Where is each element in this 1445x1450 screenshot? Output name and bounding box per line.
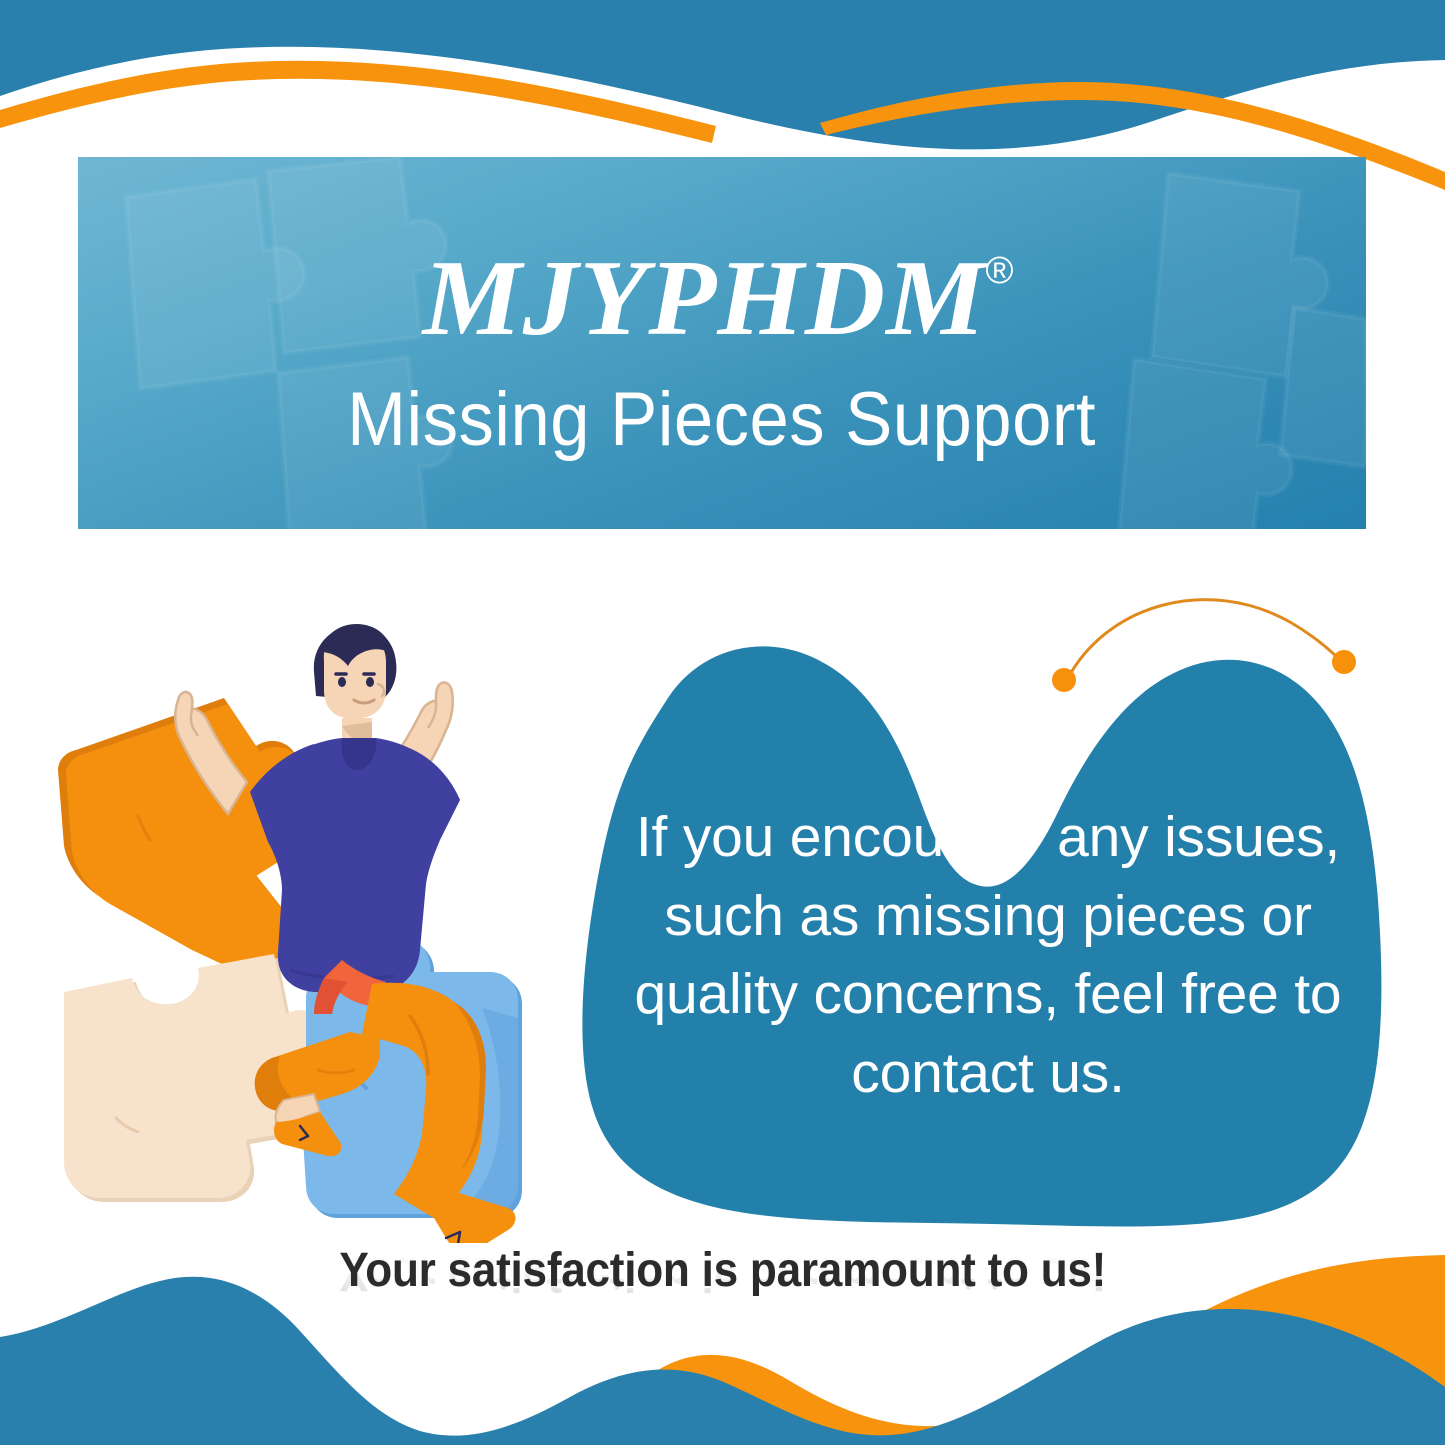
- banner-subtitle-text: Missing Pieces Support: [348, 380, 1097, 460]
- top-wave-orange-ribbon: [0, 61, 716, 143]
- character-head: [314, 624, 397, 752]
- brand-logo: MJYPHDM ®: [431, 244, 1014, 354]
- brand-name-text: MJYPHDM: [422, 244, 985, 354]
- tagline-block: Your satisfaction is paramount to us! Yo…: [0, 1246, 1445, 1349]
- poster-canvas: MJYPHDM ® Missing Pieces Support: [0, 0, 1445, 1445]
- hero-illustration: [42, 578, 562, 1243]
- top-wave-blue-shape: [0, 0, 1445, 149]
- header-banner: MJYPHDM ® Missing Pieces Support: [78, 157, 1366, 529]
- tagline-reflection-text: Your satisfaction is paramount to us!: [58, 1248, 1387, 1298]
- message-body-text: If you encounter any issues, such as mis…: [627, 798, 1349, 1113]
- message-blob: If you encounter any issues, such as mis…: [572, 598, 1404, 1243]
- registered-trademark-icon: ®: [986, 252, 1014, 290]
